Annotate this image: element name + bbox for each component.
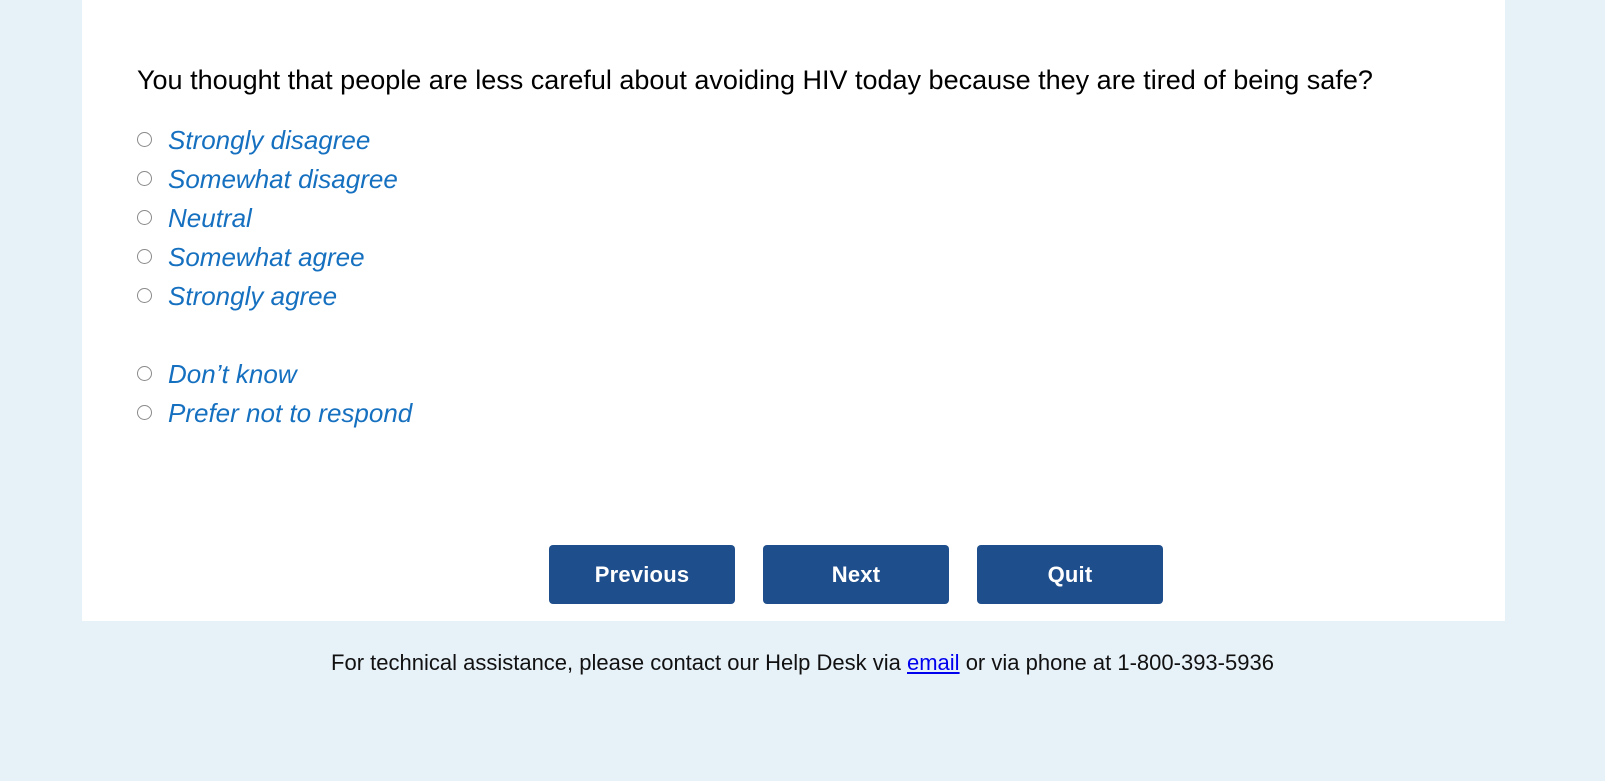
- survey-page: You thought that people are less careful…: [0, 0, 1605, 781]
- question-card: You thought that people are less careful…: [82, 0, 1505, 621]
- option-label[interactable]: Somewhat disagree: [168, 166, 398, 192]
- help-desk-text: For technical assistance, please contact…: [0, 621, 1605, 676]
- option-label[interactable]: Don’t know: [168, 361, 297, 387]
- options-list: Strongly disagree Somewhat disagree Neut…: [137, 120, 1505, 432]
- option-row-dont-know[interactable]: Don’t know: [137, 354, 1505, 393]
- option-row-strongly-disagree[interactable]: Strongly disagree: [137, 120, 1505, 159]
- previous-button[interactable]: Previous: [549, 545, 735, 604]
- radio-button-icon[interactable]: [137, 249, 152, 264]
- option-label[interactable]: Strongly disagree: [168, 127, 370, 153]
- help-desk-middle: or via phone at: [960, 650, 1118, 675]
- option-row-neutral[interactable]: Neutral: [137, 198, 1505, 237]
- option-label[interactable]: Somewhat agree: [168, 244, 365, 270]
- next-button[interactable]: Next: [763, 545, 949, 604]
- option-row-somewhat-disagree[interactable]: Somewhat disagree: [137, 159, 1505, 198]
- option-label[interactable]: Strongly agree: [168, 283, 337, 309]
- quit-button[interactable]: Quit: [977, 545, 1163, 604]
- card-content: You thought that people are less careful…: [82, 0, 1505, 432]
- option-label[interactable]: Prefer not to respond: [168, 400, 412, 426]
- radio-button-icon[interactable]: [137, 210, 152, 225]
- radio-button-icon[interactable]: [137, 171, 152, 186]
- navigation-buttons: Previous Next Quit: [549, 545, 1163, 604]
- option-label[interactable]: Neutral: [168, 205, 252, 231]
- option-row-somewhat-agree[interactable]: Somewhat agree: [137, 237, 1505, 276]
- page-footer: For technical assistance, please contact…: [0, 621, 1605, 781]
- option-row-prefer-not-to-respond[interactable]: Prefer not to respond: [137, 393, 1505, 432]
- radio-button-icon[interactable]: [137, 288, 152, 303]
- radio-button-icon[interactable]: [137, 132, 152, 147]
- email-link[interactable]: email: [907, 650, 960, 675]
- help-desk-phone: 1-800-393-5936: [1117, 650, 1274, 675]
- help-desk-prefix: For technical assistance, please contact…: [331, 650, 907, 675]
- option-row-strongly-agree[interactable]: Strongly agree: [137, 276, 1505, 315]
- radio-button-icon[interactable]: [137, 366, 152, 381]
- radio-button-icon[interactable]: [137, 405, 152, 420]
- question-text: You thought that people are less careful…: [137, 62, 1422, 98]
